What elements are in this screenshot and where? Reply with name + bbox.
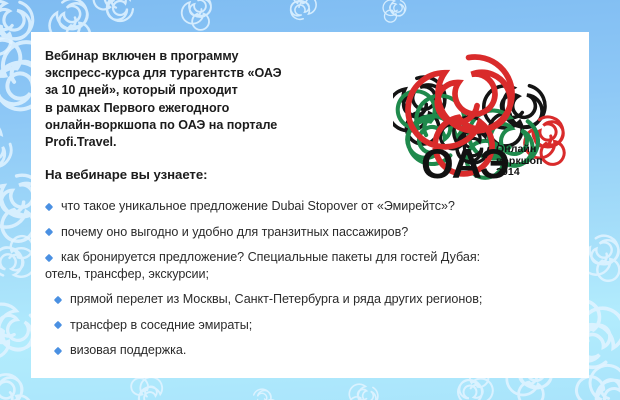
list-item: что такое уникальное предложение Dubai S… bbox=[45, 198, 575, 215]
list-item: прямой перелет из Москвы, Санкт-Петербур… bbox=[54, 291, 575, 308]
list-item: как бронируется предложение? Специальные… bbox=[45, 249, 575, 282]
list-item-text-line1: как бронируется предложение? Специальные… bbox=[61, 249, 575, 266]
list-item-text: прямой перелет из Москвы, Санкт-Петербур… bbox=[70, 291, 575, 308]
bullet-diamond-icon bbox=[54, 321, 62, 329]
logo-subtitle: Онлайн воркшоп 2014 bbox=[496, 144, 543, 179]
list-item-text: как бронируется предложение? Специальные… bbox=[45, 249, 575, 282]
bullet-diamond-icon bbox=[45, 202, 53, 210]
bullet-diamond-icon bbox=[45, 228, 53, 236]
list-item-text: что такое уникальное предложение Dubai S… bbox=[61, 198, 575, 215]
list-item: почему оно выгодно и удобно для транзитн… bbox=[45, 224, 575, 241]
list-item-text-line2: отель, трансфер, экскурсии; bbox=[45, 266, 575, 283]
logo-subtitle-line1: Онлайн bbox=[496, 144, 543, 156]
list-item: визовая поддержка. bbox=[54, 342, 575, 359]
benefits-list: что такое уникальное предложение Dubai S… bbox=[45, 198, 575, 368]
list-item-text: почему оно выгодно и удобно для транзитн… bbox=[61, 224, 575, 241]
bullet-diamond-icon bbox=[54, 295, 62, 303]
list-item-text: трансфер в соседние эмираты; bbox=[70, 317, 575, 334]
logo-subtitle-year: 2014 bbox=[496, 167, 543, 179]
promo-banner: Вебинар включен в программу экспресс-кур… bbox=[0, 0, 620, 400]
bullet-diamond-icon bbox=[54, 346, 62, 354]
section-subheading: На вебинаре вы узнаете: bbox=[45, 167, 207, 182]
oae-online-workshop-logo: ОАЭ Онлайн воркшоп 2014 bbox=[393, 46, 579, 194]
content-card: Вебинар включен в программу экспресс-кур… bbox=[31, 32, 589, 378]
list-item-text: визовая поддержка. bbox=[70, 342, 575, 359]
list-item: трансфер в соседние эмираты; bbox=[54, 317, 575, 334]
intro-paragraph: Вебинар включен в программу экспресс-кур… bbox=[45, 48, 345, 151]
